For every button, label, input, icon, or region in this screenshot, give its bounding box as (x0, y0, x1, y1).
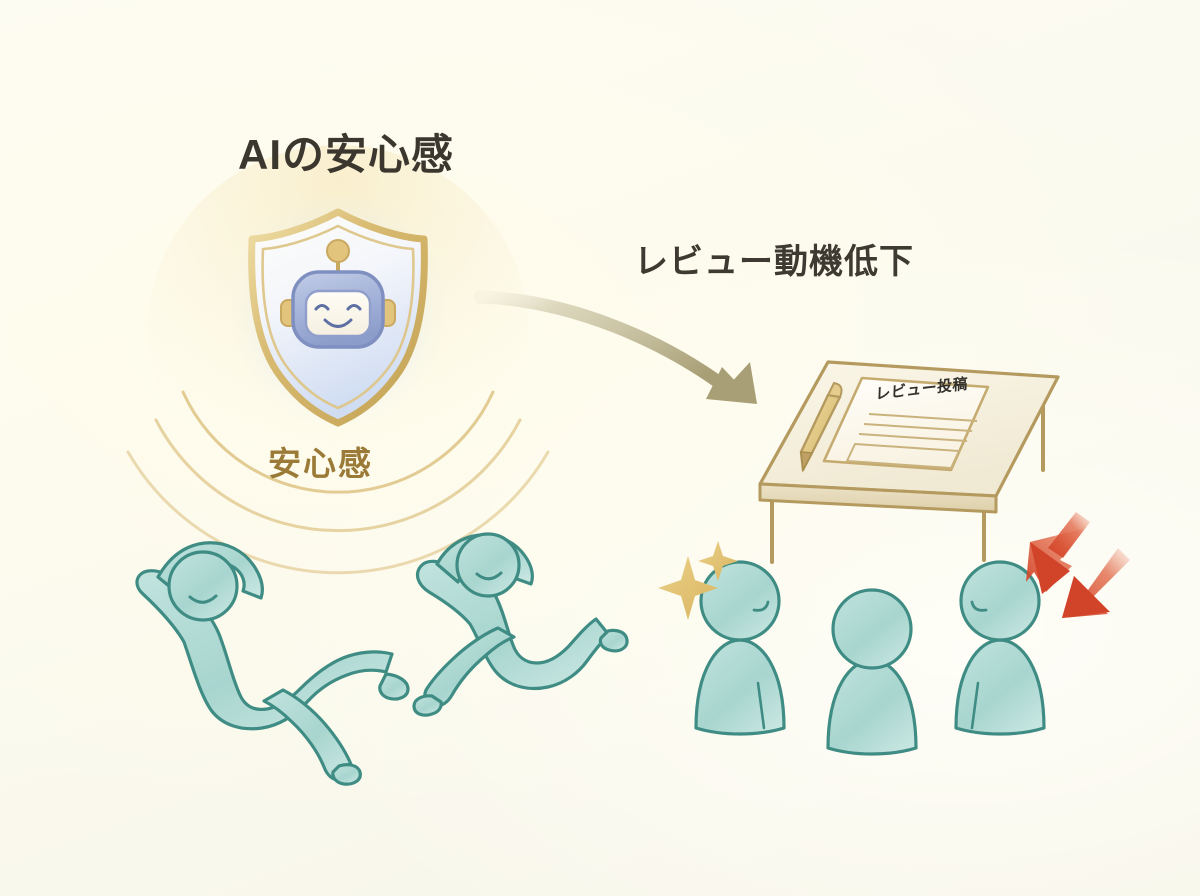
relaxed-people-group (137, 534, 627, 787)
scene-graphics (0, 0, 1200, 896)
flow-label: レビュー動機低下 (634, 245, 914, 279)
standing-person-middle-body (828, 660, 916, 754)
standing-person-right-body (956, 640, 1044, 734)
reclining-person-2 (414, 534, 627, 715)
reclining-person-1-head (169, 552, 237, 620)
robot-face-plate (306, 291, 370, 336)
reclining-person-2-foot-2 (600, 630, 627, 650)
reclining-person-2-head (457, 534, 519, 596)
standing-person-left-body (696, 640, 784, 734)
standing-people-group (696, 562, 1044, 754)
reclining-person-1-foot (333, 765, 360, 784)
reclining-person-1 (137, 543, 408, 787)
alert-arrow-2 (1062, 548, 1130, 618)
alert-arrows-group (1026, 512, 1130, 618)
standing-person-middle-head (833, 590, 911, 668)
illustration-canvas: AIの安心感 レビュー動機低下 安心感 レビュー投稿 (0, 0, 1200, 896)
standing-person-middle (828, 590, 916, 754)
antenna-bulb (327, 240, 349, 262)
page-title: AIの安心感 (238, 134, 454, 176)
reclining-person-1-foot-2 (380, 674, 408, 699)
standing-person-right (956, 562, 1044, 734)
aura-label: 安心感 (268, 447, 373, 480)
reclining-person-2-foot (414, 696, 441, 715)
ai-trust-shield-badge (230, 192, 446, 428)
